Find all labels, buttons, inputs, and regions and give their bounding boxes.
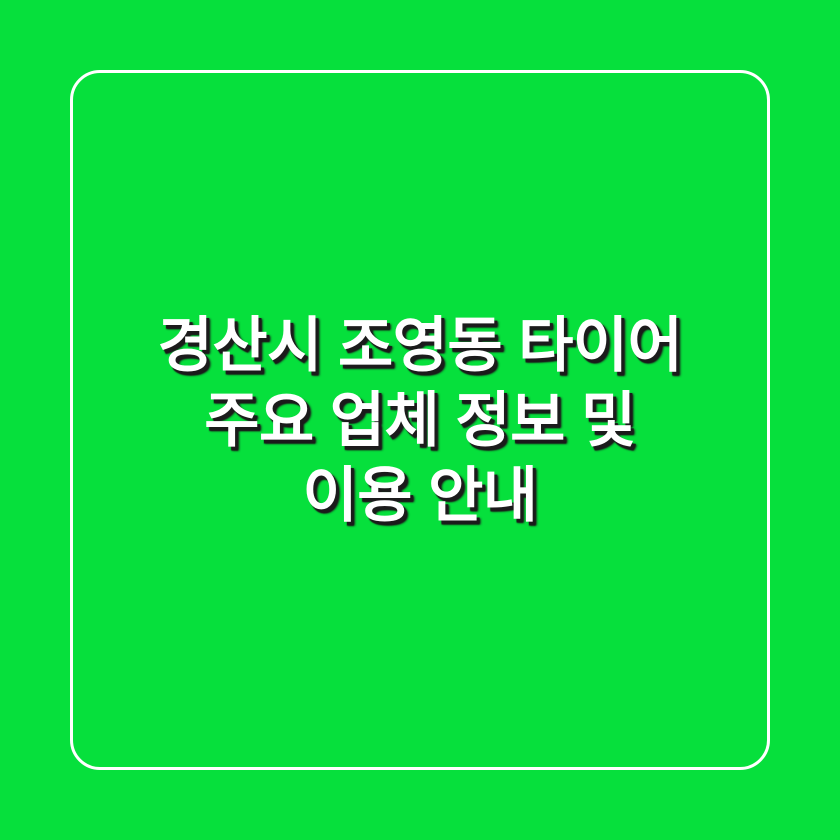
poster-canvas: 경산시 조영동 타이어 주요 업체 정보 및 이용 안내: [0, 0, 840, 840]
page-title-line-2: 주요 업체 정보 및: [78, 383, 762, 458]
page-title-line-3: 이용 안내: [78, 458, 762, 533]
page-title-line-1: 경산시 조영동 타이어: [78, 308, 762, 383]
page-title: 경산시 조영동 타이어 주요 업체 정보 및 이용 안내: [0, 0, 840, 840]
